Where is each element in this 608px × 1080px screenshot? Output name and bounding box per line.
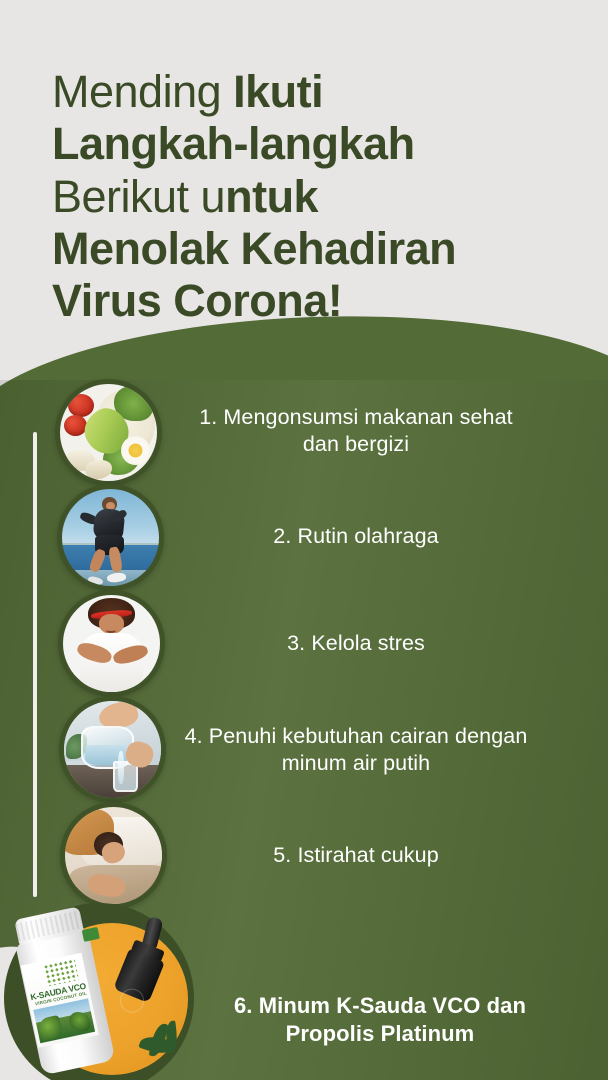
step-2-text: 2. Rutin olahraga bbox=[182, 523, 530, 550]
headline-line1-bold: Ikuti bbox=[233, 66, 323, 117]
infographic-poster: Mending Ikuti Langkah-langkah Berikut un… bbox=[0, 0, 608, 1080]
page-title: Mending Ikuti Langkah-langkah Berikut un… bbox=[52, 66, 572, 327]
woman-hugging-self-photo bbox=[63, 595, 160, 692]
step-6-product-composition: K-SAUDA VCO VIRGIN COCONUT OIL bbox=[0, 895, 300, 1080]
timeline-vertical-line bbox=[33, 432, 37, 897]
headline-line2-bold: Langkah-langkah bbox=[52, 118, 415, 169]
healthy-food-bowl-photo bbox=[60, 384, 157, 481]
step-5-thumbnail bbox=[60, 802, 167, 909]
step-4-text: 4. Penuhi kebutuhan cairan dengan minum … bbox=[182, 723, 530, 777]
label-green-tab bbox=[82, 927, 100, 942]
step-6-text: 6. Minum K-Sauda VCO dan Propolis Platin… bbox=[200, 992, 560, 1047]
man-running-photo bbox=[62, 489, 159, 586]
step-1-text: 1. Mengonsumsi makanan sehat dan bergizi bbox=[182, 404, 530, 458]
step-3-text: 3. Kelola stres bbox=[182, 630, 530, 657]
headline-line3-bold: ntuk bbox=[225, 171, 318, 222]
headline-line4-bold: Menolak Kehadiran bbox=[52, 223, 456, 274]
label-coconut-photo bbox=[33, 998, 95, 1043]
woman-sleeping-photo bbox=[65, 807, 162, 904]
step-2-thumbnail bbox=[57, 484, 164, 591]
headline-line1-light: Mending bbox=[52, 66, 233, 117]
headline-line5-bold: Virus Corona! bbox=[52, 275, 342, 326]
step-3-thumbnail bbox=[58, 590, 165, 697]
step-5-text: 5. Istirahat cukup bbox=[182, 842, 530, 869]
step-4-thumbnail bbox=[59, 696, 166, 803]
headline-line3-light: Berikut u bbox=[52, 171, 225, 222]
pouring-water-photo bbox=[64, 701, 161, 798]
step-1-thumbnail bbox=[55, 379, 162, 486]
